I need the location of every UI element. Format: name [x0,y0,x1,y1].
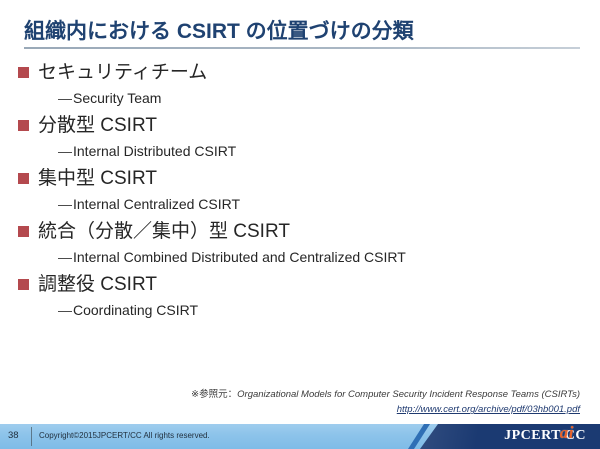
footnote-reference-title: Organizational Models for Computer Secur… [237,389,580,400]
bullet-list: セキュリティチーム — Security Team 分散型 CSIRT — In… [18,60,588,325]
em-dash-icon: — [58,245,72,269]
list-item-level1: 分散型 CSIRT [18,113,588,139]
page-title: 組織内における CSIRT の位置づけの分類 [24,20,580,49]
list-item-level1: セキュリティチーム [18,60,588,86]
list-item: 集中型 CSIRT — Internal Centralized CSIRT [18,166,588,216]
list-item-level2: — Internal Combined Distributed and Cent… [58,245,588,269]
square-bullet-icon [18,120,29,131]
list-item-level2-label: Internal Combined Distributed and Centra… [73,245,406,269]
list-item: 統合（分散／集中）型 CSIRT — Internal Combined Dis… [18,219,588,269]
list-item-level1: 統合（分散／集中）型 CSIRT [18,219,588,245]
jpcert-logo-text: JPCERT CC ai [504,428,586,444]
list-item-level2: — Security Team [58,86,588,110]
jpcert-logo: JPCERT CC ai [404,424,600,449]
source-url-link[interactable]: http://www.cert.org/archive/pdf/03hb001.… [120,403,580,417]
list-item-level1: 集中型 CSIRT [18,166,588,192]
em-dash-icon: — [58,298,72,322]
list-item-level1-label: 集中型 CSIRT [38,166,157,192]
copyright-text: Copyright©2015JPCERT/CC All rights reser… [39,431,210,440]
list-item-level2: — Internal Centralized CSIRT [58,192,588,216]
list-item: セキュリティチーム — Security Team [18,60,588,110]
list-item-level1-label: 分散型 CSIRT [38,113,157,139]
em-dash-icon: — [58,192,72,216]
page-title-text: 組織内における CSIRT の位置づけの分類 [24,20,580,44]
source-footnote: ※参照元：Organizational Models for Computer … [120,388,580,418]
page-number: 38 [8,430,19,441]
list-item-level2: — Coordinating CSIRT [58,298,588,322]
list-item-level2-label: Internal Centralized CSIRT [73,192,240,216]
square-bullet-icon [18,173,29,184]
title-underline-rule [24,47,580,49]
list-item-level2-label: Coordinating CSIRT [73,298,198,322]
em-dash-icon: — [58,86,72,110]
list-item-level2-label: Security Team [73,86,161,110]
list-item: 分散型 CSIRT — Internal Distributed CSIRT [18,113,588,163]
square-bullet-icon [18,279,29,290]
em-dash-icon: — [58,139,72,163]
list-item-level2-label: Internal Distributed CSIRT [73,139,236,163]
jpcert-logo-main: JPCERT [504,428,561,443]
jpcert-logo-cc: CC [565,428,586,443]
list-item-level1: 調整役 CSIRT [18,272,588,298]
footer-bar: 38 Copyright©2015JPCERT/CC All rights re… [0,424,600,449]
slide: 組織内における CSIRT の位置づけの分類 セキュリティチーム — Secur… [0,0,600,449]
list-item-level1-label: 統合（分散／集中）型 CSIRT [38,219,290,245]
list-item-level2: — Internal Distributed CSIRT [58,139,588,163]
square-bullet-icon [18,226,29,237]
list-item-level1-label: セキュリティチーム [38,60,207,86]
list-item: 調整役 CSIRT — Coordinating CSIRT [18,272,588,322]
footnote-prefix: ※参照元： [191,389,237,400]
square-bullet-icon [18,67,29,78]
footer-divider [31,427,32,446]
jpcert-logo-ai: ai [560,424,574,443]
list-item-level1-label: 調整役 CSIRT [38,272,157,298]
